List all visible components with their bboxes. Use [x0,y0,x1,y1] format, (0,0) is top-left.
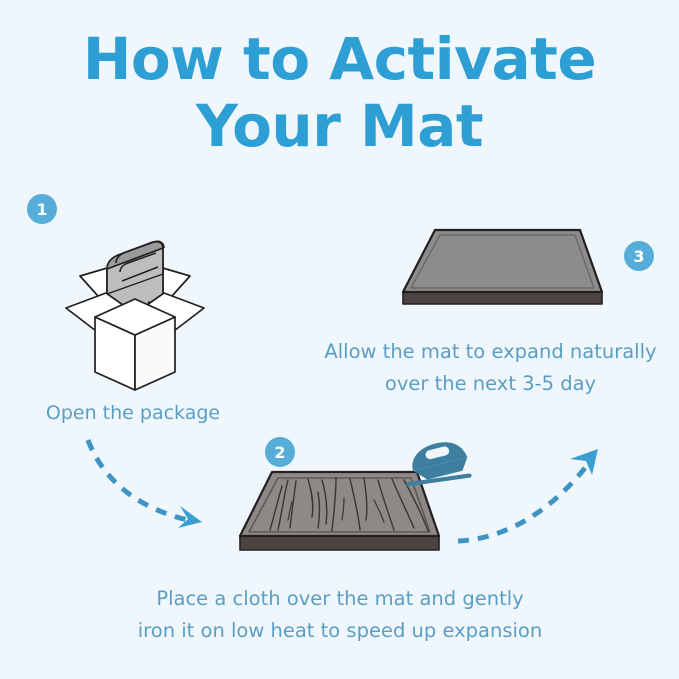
open-box-with-mat-icon [50,222,220,397]
step-3-caption-line-1: Allow the mat to expand naturally [302,336,679,368]
flat-mat-icon [395,218,610,328]
dashed-arrow-step2-to-step3 [452,443,612,558]
dashed-arrow-step1-to-step2 [80,432,230,547]
step-2-caption: Place a cloth over the mat and gently ir… [100,583,580,646]
title-line-2: Your Mat [0,93,679,160]
step-badge-1: 1 [27,194,57,224]
title-line-1: How to Activate [0,26,679,93]
step-2-caption-line-1: Place a cloth over the mat and gently [100,583,580,615]
step-1-caption-line-1: Open the package [0,398,266,429]
step-3-caption-line-2: over the next 3-5 day [302,368,679,400]
page-title: How to Activate Your Mat [0,26,679,161]
infographic-canvas: How to Activate Your Mat 1 [0,0,679,679]
step-badge-3: 3 [624,241,654,271]
step-1-caption: Open the package [0,398,266,429]
step-2-caption-line-2: iron it on low heat to speed up expansio… [100,615,580,647]
step-3-caption: Allow the mat to expand naturally over t… [302,336,679,399]
